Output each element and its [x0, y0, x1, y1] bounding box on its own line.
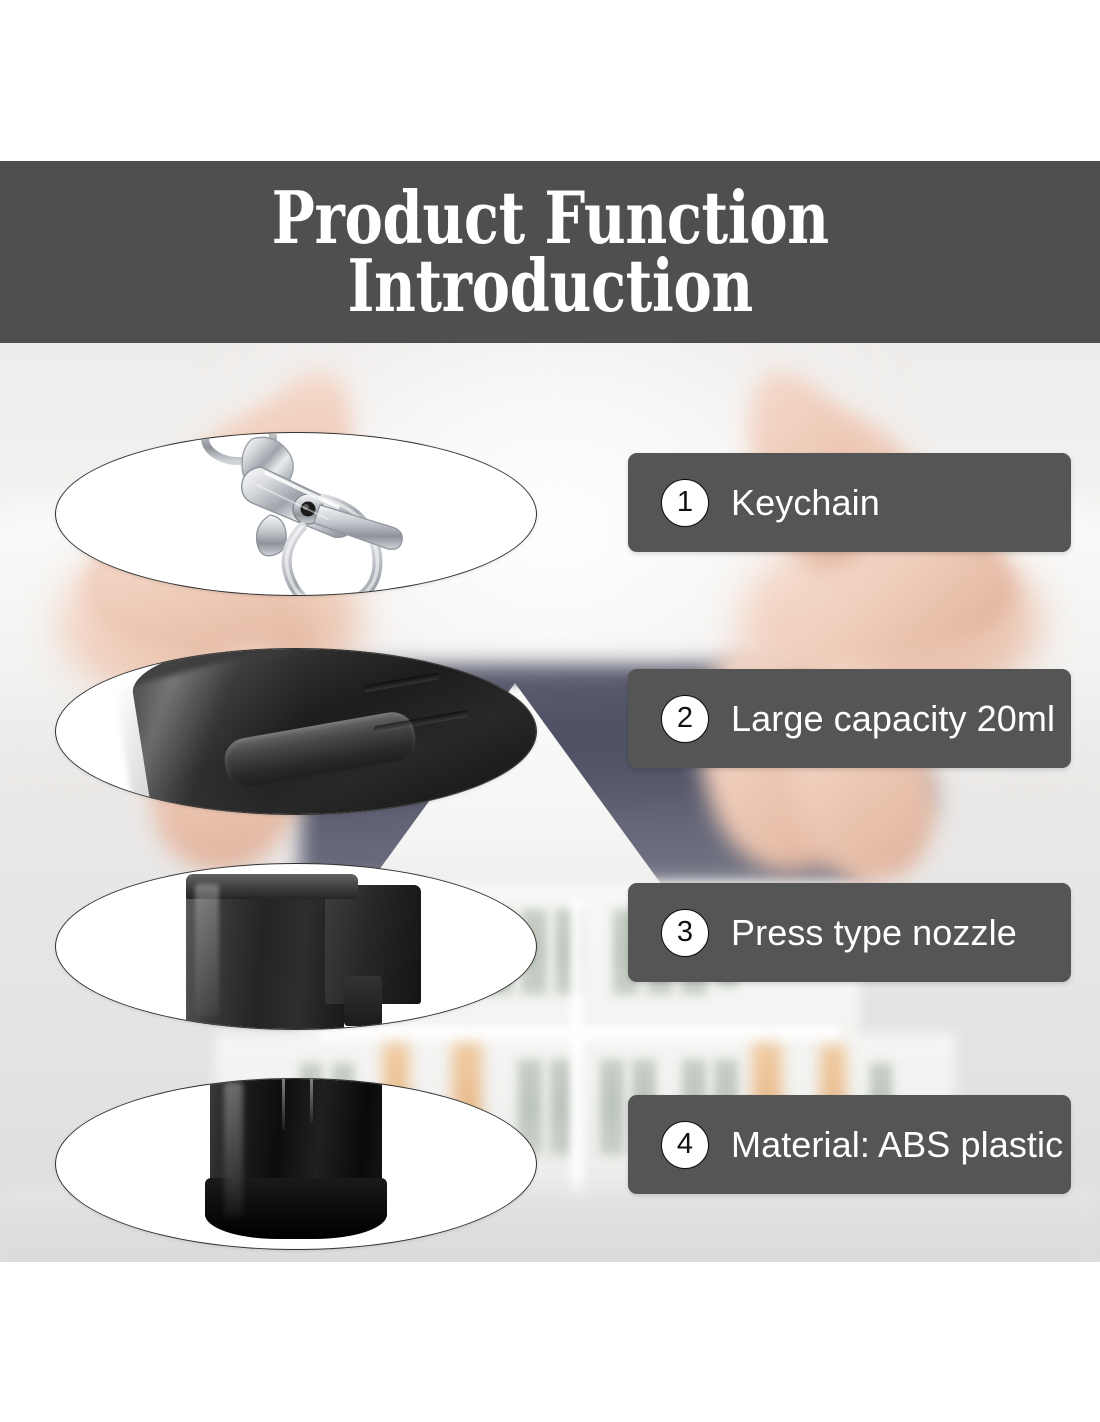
cap-highlight [224, 1082, 243, 1218]
feature-label-text-1: Keychain [731, 482, 880, 524]
feature-image-4 [55, 1078, 537, 1250]
abs-cap-icon [56, 1079, 536, 1249]
feature-number-4: 4 [661, 1121, 709, 1169]
nozzle-highlight [195, 884, 219, 1016]
nozzle-stub [344, 976, 382, 1026]
product-feature-infographic: Product Function Introduction [0, 0, 1100, 1422]
feature-image-1-content [56, 433, 536, 595]
page-title: Product Function Introduction [263, 184, 836, 319]
feature-label-4[interactable]: 4 Material: ABS plastic [628, 1095, 1071, 1194]
press-nozzle-icon [56, 864, 536, 1029]
house-window [600, 1059, 624, 1155]
top-margin [0, 0, 1100, 161]
feature-label-text-4: Material: ABS plastic [731, 1124, 1063, 1166]
feature-number-2: 2 [661, 695, 709, 743]
feature-image-3-content [56, 864, 536, 1029]
photo-stage: 1 Keychain 2 Large capacity 20ml 3 Press… [0, 343, 1100, 1262]
feature-image-1 [55, 432, 537, 596]
feature-label-3[interactable]: 3 Press type nozzle [628, 883, 1071, 982]
feature-label-text-3: Press type nozzle [731, 912, 1017, 954]
feature-image-3 [55, 863, 537, 1030]
feature-image-2 [55, 648, 537, 815]
house-center-column [570, 899, 584, 1229]
feature-label-1[interactable]: 1 Keychain [628, 453, 1071, 552]
keychain-clasp-icon [56, 433, 536, 595]
feature-label-2[interactable]: 2 Large capacity 20ml [628, 669, 1071, 768]
feature-number-1: 1 [661, 479, 709, 527]
bottom-margin [0, 1262, 1100, 1422]
cap-slot [282, 1079, 285, 1130]
feature-label-text-2: Large capacity 20ml [731, 698, 1055, 740]
header-banner: Product Function Introduction [0, 161, 1100, 343]
feature-number-3: 3 [661, 909, 709, 957]
cap-slot [310, 1079, 313, 1123]
feature-image-2-content [56, 649, 536, 814]
feature-image-4-content [56, 1079, 536, 1249]
bottle-body-icon [56, 649, 536, 814]
